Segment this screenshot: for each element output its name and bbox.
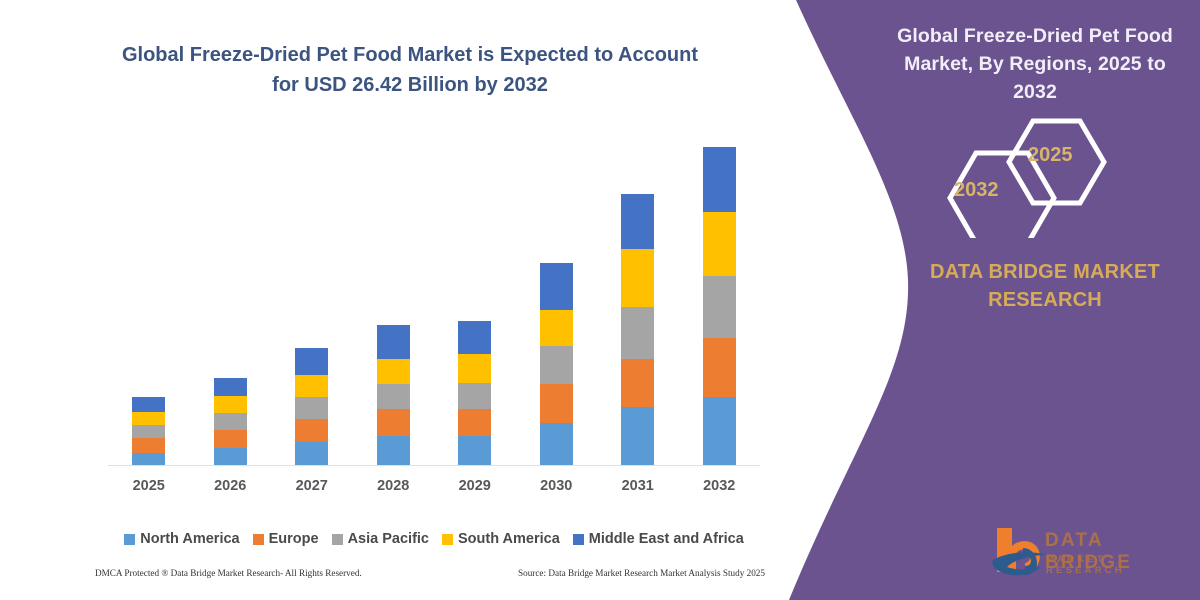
bar-segment-2030-europe: [540, 384, 573, 423]
bar-segment-2032-asia-pacific: [703, 276, 736, 338]
x-axis-label-2027: 2027: [282, 478, 342, 494]
legend-label: Asia Pacific: [348, 531, 429, 547]
x-axis-label-2032: 2032: [689, 478, 749, 494]
bar-segment-2030-north-america: [540, 423, 573, 466]
legend-item-south-america[interactable]: South America: [442, 531, 560, 547]
bar-segment-2026-asia-pacific: [214, 413, 247, 430]
legend-item-north-america[interactable]: North America: [124, 531, 239, 547]
legend-label: North America: [140, 531, 239, 547]
bar-2030: [540, 263, 573, 466]
bar-2025: [132, 397, 165, 466]
data-bridge-logo: DATA BRIDGE MARKET RESEARCH: [985, 522, 1190, 584]
bar-segment-2027-north-america: [295, 442, 328, 466]
bar-segment-2026-south-america: [214, 396, 247, 413]
hexagon-2032-label: 2032: [954, 179, 999, 202]
bar-segment-2031-south-america: [621, 249, 654, 307]
bar-chart-plot-area: [108, 140, 760, 466]
bar-segment-2026-north-america: [214, 448, 247, 466]
legend-swatch-icon: [573, 534, 584, 545]
x-axis-label-2026: 2026: [200, 478, 260, 494]
page-title: Global Freeze-Dried Pet Food Market is E…: [95, 40, 725, 100]
logo-text-secondary: MARKET RESEARCH: [1046, 554, 1190, 576]
chart-legend: North AmericaEuropeAsia PacificSouth Ame…: [108, 531, 760, 547]
brand-line-2: RESEARCH: [900, 286, 1190, 314]
legend-swatch-icon: [253, 534, 264, 545]
bar-segment-2025-north-america: [132, 453, 165, 466]
hexagon-2025-label: 2025: [1028, 144, 1073, 167]
bar-segment-2029-north-america: [458, 436, 491, 466]
bar-segment-2026-middle-east-and-africa: [214, 378, 247, 396]
bar-segment-2031-europe: [621, 359, 654, 407]
bar-2028: [377, 325, 410, 466]
footer-copyright: DMCA Protected ® Data Bridge Market Rese…: [95, 568, 362, 578]
bar-segment-2031-middle-east-and-africa: [621, 194, 654, 248]
bar-segment-2031-north-america: [621, 407, 654, 466]
footer: DMCA Protected ® Data Bridge Market Rese…: [95, 568, 765, 578]
bar-segment-2025-europe: [132, 438, 165, 452]
bar-segment-2025-asia-pacific: [132, 425, 165, 438]
legend-swatch-icon: [124, 534, 135, 545]
bar-segment-2028-north-america: [377, 436, 410, 466]
infographic-root: Global Freeze-Dried Pet Food Market, By …: [0, 0, 1200, 600]
footer-source: Source: Data Bridge Market Research Mark…: [518, 568, 765, 578]
bar-segment-2027-middle-east-and-africa: [295, 348, 328, 376]
bar-segment-2028-middle-east-and-africa: [377, 325, 410, 359]
legend-label: South America: [458, 531, 560, 547]
page-title-line-1: Global Freeze-Dried Pet Food Market is E…: [95, 40, 725, 70]
page-title-line-2: for USD 26.42 Billion by 2032: [95, 70, 725, 100]
bar-segment-2027-europe: [295, 419, 328, 442]
brand-line-1: DATA BRIDGE MARKET: [900, 258, 1190, 286]
bar-segment-2026-europe: [214, 430, 247, 448]
panel-title-line-2: Market, By Regions, 2025 to 2032: [880, 50, 1190, 106]
bar-segment-2029-middle-east-and-africa: [458, 321, 491, 354]
bar-segment-2030-middle-east-and-africa: [540, 263, 573, 310]
bar-segment-2028-south-america: [377, 359, 410, 384]
bar-segment-2032-south-america: [703, 212, 736, 276]
bar-segment-2029-asia-pacific: [458, 383, 491, 410]
bar-segment-2032-north-america: [703, 397, 736, 466]
bar-segment-2032-middle-east-and-africa: [703, 147, 736, 212]
bar-2026: [214, 378, 247, 466]
x-axis-label-2030: 2030: [526, 478, 586, 494]
bar-segment-2032-europe: [703, 338, 736, 397]
x-axis-label-2028: 2028: [363, 478, 423, 494]
hexagon-outlines-icon: [920, 108, 1120, 238]
bar-segment-2028-europe: [377, 409, 410, 436]
bar-segment-2027-south-america: [295, 375, 328, 397]
bar-segment-2031-asia-pacific: [621, 307, 654, 359]
x-axis-label-2031: 2031: [608, 478, 668, 494]
x-axis-line: [108, 465, 760, 466]
bar-segment-2025-middle-east-and-africa: [132, 397, 165, 411]
legend-label: Europe: [269, 531, 319, 547]
bar-2032: [703, 147, 736, 466]
bar-2029: [458, 321, 491, 466]
legend-item-europe[interactable]: Europe: [253, 531, 319, 547]
panel-title-line-1: Global Freeze-Dried Pet Food: [880, 22, 1190, 50]
x-axis-label-2025: 2025: [119, 478, 179, 494]
bar-segment-2029-south-america: [458, 354, 491, 383]
hexagon-group: 2025 2032: [920, 108, 1120, 238]
bar-segment-2028-asia-pacific: [377, 384, 410, 409]
legend-item-middle-east-and-africa[interactable]: Middle East and Africa: [573, 531, 744, 547]
bar-segment-2030-asia-pacific: [540, 346, 573, 383]
bar-segment-2025-south-america: [132, 412, 165, 425]
bar-2027: [295, 348, 328, 466]
legend-item-asia-pacific[interactable]: Asia Pacific: [332, 531, 429, 547]
legend-label: Middle East and Africa: [589, 531, 744, 547]
bar-segment-2029-europe: [458, 409, 491, 436]
bar-segment-2027-asia-pacific: [295, 397, 328, 419]
x-axis-label-2029: 2029: [445, 478, 505, 494]
panel-title: Global Freeze-Dried Pet Food Market, By …: [880, 22, 1190, 106]
legend-swatch-icon: [332, 534, 343, 545]
bar-segment-2030-south-america: [540, 310, 573, 346]
bar-2031: [621, 194, 654, 466]
legend-swatch-icon: [442, 534, 453, 545]
brand-name: DATA BRIDGE MARKET RESEARCH: [900, 258, 1190, 314]
